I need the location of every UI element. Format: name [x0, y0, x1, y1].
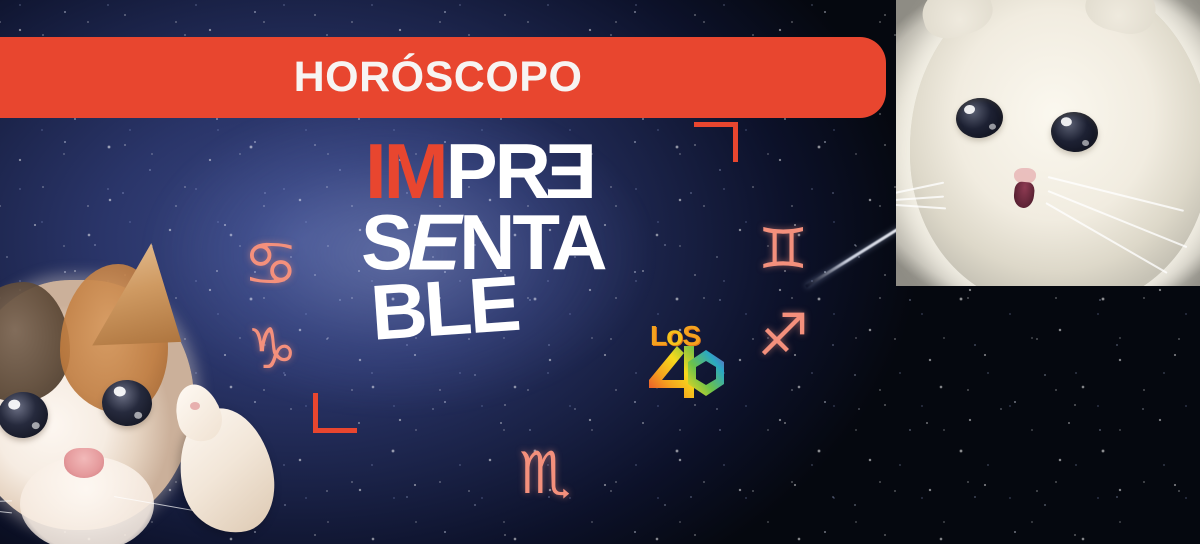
horoscope-banner-stage: HORÓSCOPO IMPRE SENTA BLE ♋ ♑ ♊ ♐ ♏ LoS: [0, 0, 1200, 544]
corner-bracket-bottom-left: [313, 393, 357, 433]
eye-glint-secondary: [32, 422, 40, 430]
los-40-logo: LoS: [644, 322, 730, 398]
white-crying-cat-photo: [896, 0, 1200, 286]
eye-glint-secondary: [1082, 140, 1089, 147]
page-title: HORÓSCOPO: [294, 56, 583, 99]
calico-crying-cat-photo: [0, 256, 294, 544]
los-40-number-mark: [644, 344, 730, 400]
cat-nose: [64, 448, 104, 478]
zodiac-scorpio-icon: ♏: [519, 444, 571, 502]
wordmark-line-1: IMPRE: [365, 138, 745, 205]
zodiac-sagittarius-icon: ♐: [757, 306, 809, 364]
horoscope-banner: HORÓSCOPO: [0, 37, 886, 118]
eye-glint: [8, 399, 21, 410]
eye-glint: [1060, 117, 1072, 127]
eye-glint: [964, 104, 976, 114]
eye-glint-secondary: [134, 412, 142, 420]
cat-paw-pad: [190, 402, 200, 410]
wordmark-reversed-e: E: [548, 138, 597, 205]
zodiac-gemini-icon: ♊: [758, 222, 808, 278]
eye-glint: [113, 386, 126, 397]
wordmark-line-3: BLE: [369, 270, 520, 347]
eye-glint-secondary: [989, 123, 997, 130]
